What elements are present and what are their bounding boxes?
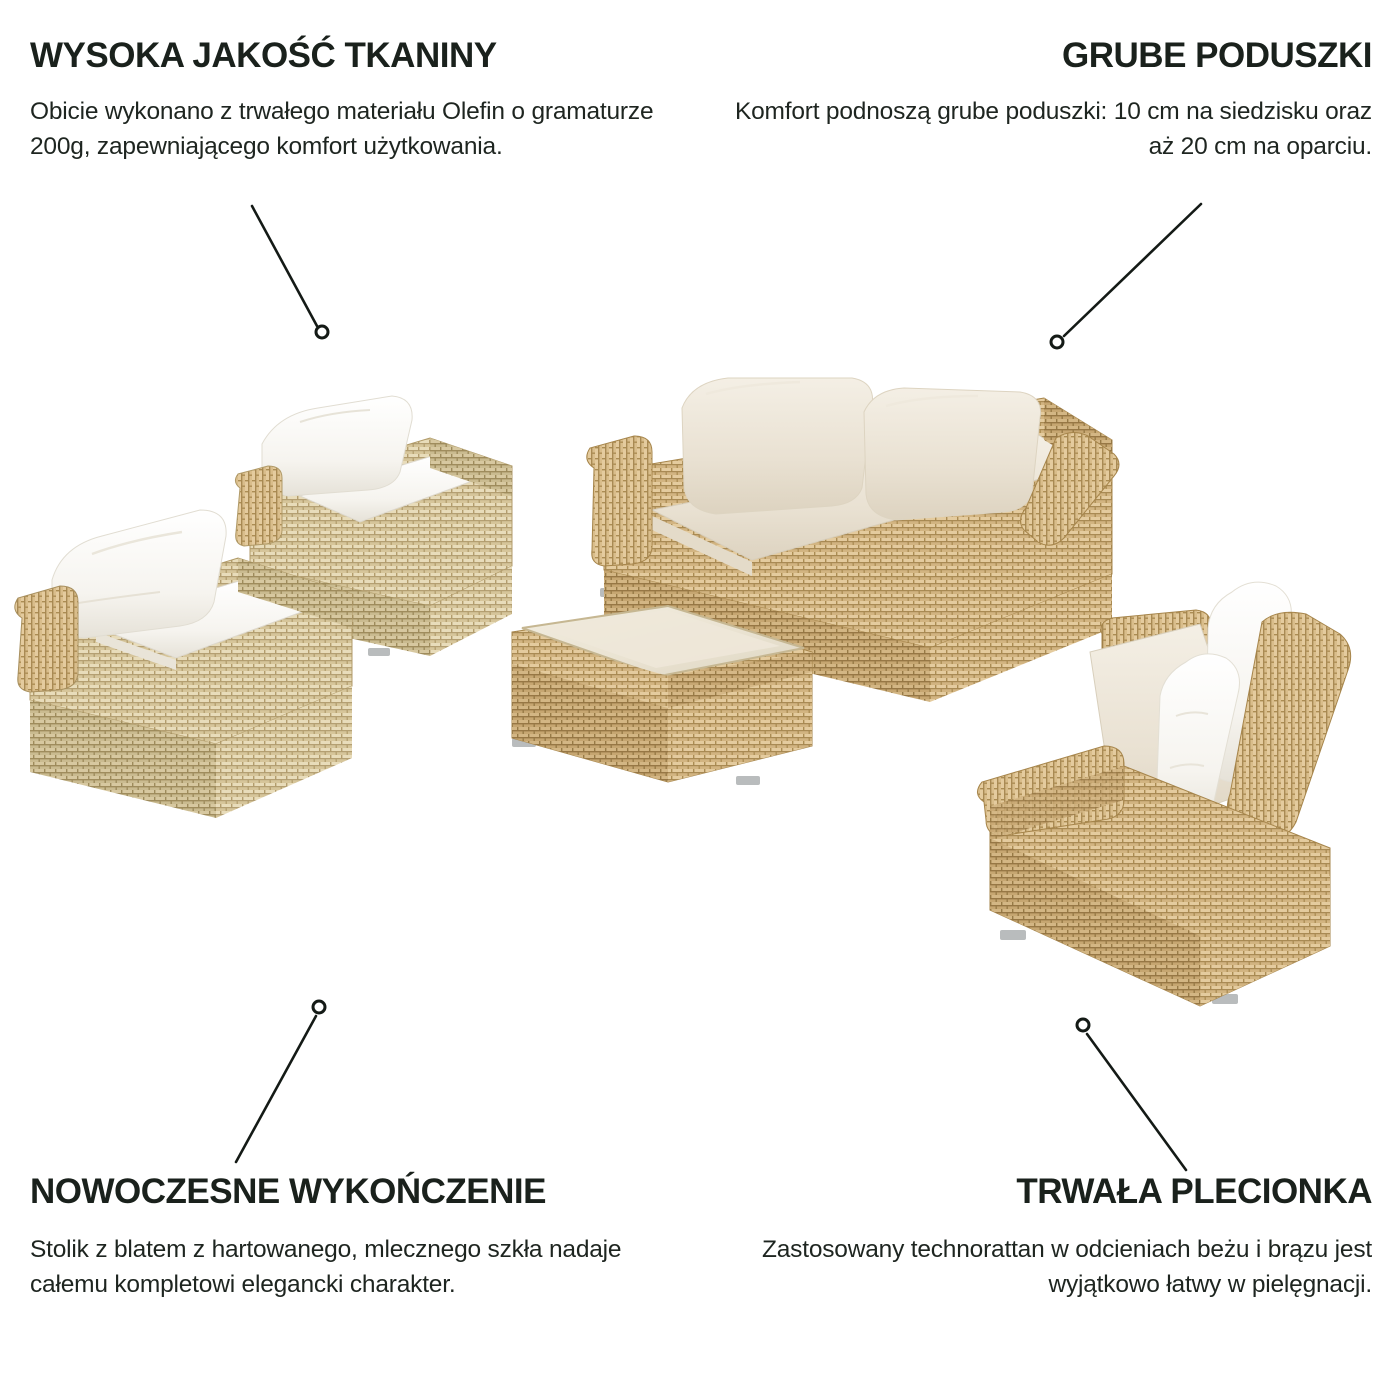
pointer-line-bottom-left [236, 1016, 316, 1162]
feature-body: Obicie wykonano z trwałego materiału Ole… [30, 95, 690, 165]
pointer-dot-top-right [1051, 336, 1063, 348]
feature-heading: TRWAŁA PLECIONKA [712, 1174, 1372, 1211]
armrest-left [587, 436, 652, 566]
furniture-illustration [0, 370, 1400, 1030]
pointer-dot-top-left [316, 326, 328, 338]
back-pillow-right [864, 388, 1041, 520]
pointer-line-top-left [252, 206, 317, 326]
feature-body: Stolik z blatem z hartowanego, mlecznego… [30, 1233, 690, 1303]
feature-block-modern-finish: NOWOCZESNE WYKOŃCZENIE Stolik z blatem z… [30, 1174, 690, 1302]
furniture-foot [1000, 930, 1026, 940]
feature-block-thick-cushions: GRUBE PODUSZKI Komfort podnoszą grube po… [712, 38, 1372, 164]
feature-body: Komfort podnoszą grube poduszki: 10 cm n… [712, 95, 1372, 165]
furniture-foot [736, 776, 760, 785]
feature-heading: NOWOCZESNE WYKOŃCZENIE [30, 1174, 690, 1211]
furniture-scene [0, 370, 1400, 1030]
feature-heading: WYSOKA JAKOŚĆ TKANINY [30, 38, 690, 75]
feature-heading: GRUBE PODUSZKI [712, 38, 1372, 75]
feature-block-durable-weave: TRWAŁA PLECIONKA Zastosowany technoratta… [712, 1174, 1372, 1302]
infographic-stage: WYSOKA JAKOŚĆ TKANINY Obicie wykonano z … [0, 0, 1400, 1400]
back-pillow [262, 396, 412, 496]
back-pillow-left [682, 378, 873, 514]
armrest [15, 586, 78, 692]
feature-block-high-quality-fabric: WYSOKA JAKOŚĆ TKANINY Obicie wykonano z … [30, 38, 690, 164]
armrest [235, 466, 282, 546]
feature-body: Zastosowany technorattan w odcieniach be… [712, 1233, 1372, 1303]
pointer-line-top-right [1064, 204, 1201, 336]
furniture-foot [368, 648, 390, 656]
pointer-line-bottom-right [1087, 1034, 1186, 1170]
